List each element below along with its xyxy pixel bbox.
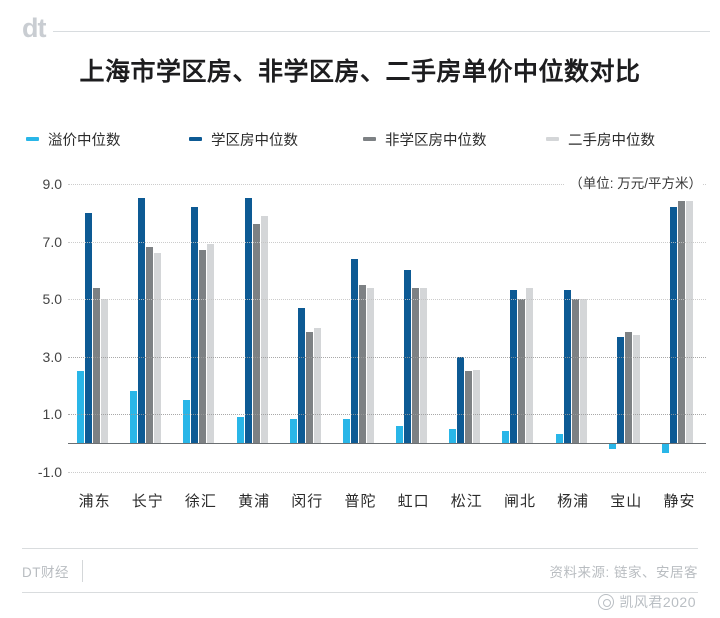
legend-swatch-icon (363, 137, 376, 141)
bar-浦东-3[interactable] (101, 299, 108, 443)
bar-group-杨浦[interactable] (547, 168, 600, 478)
bar-宝山-1[interactable] (617, 337, 624, 443)
legend-label: 溢价中位数 (48, 129, 121, 150)
x-axis-tick-label: 虹口 (387, 490, 440, 511)
plot-area: （单位: 万元/平方米） 9.07.05.03.01.0-1.0 (0, 168, 720, 478)
footer-left: DT财经 (22, 560, 83, 582)
bar-虹口-3[interactable] (420, 288, 427, 443)
x-axis-tick-label: 普陀 (334, 490, 387, 511)
bar-闸北-2[interactable] (518, 299, 525, 443)
y-axis-tick-label: 9.0 (43, 176, 62, 192)
x-axis-tick-label: 闵行 (281, 490, 334, 511)
legend-item-2[interactable]: 非学区房中位数 (363, 129, 487, 150)
bar-杨浦-3[interactable] (580, 299, 587, 443)
footer-brand: DT财经 (22, 561, 69, 581)
bar-group-徐汇[interactable] (174, 168, 227, 478)
gridline (68, 357, 706, 358)
bar-闵行-3[interactable] (314, 328, 321, 443)
bar-长宁-1[interactable] (138, 198, 145, 443)
bar-杨浦-2[interactable] (572, 299, 579, 443)
bar-宝山-3[interactable] (633, 335, 640, 443)
footer-vertical-rule (82, 560, 83, 582)
bar-group-浦东[interactable] (68, 168, 121, 478)
bar-杨浦-1[interactable] (564, 290, 571, 443)
y-axis-tick-label: 3.0 (43, 349, 62, 365)
y-axis-tick-label: 5.0 (43, 291, 62, 307)
bar-普陀-0[interactable] (343, 419, 350, 443)
bar-静安-0[interactable] (662, 443, 669, 453)
bar-闸北-1[interactable] (510, 290, 517, 443)
chart-page: dt 上海市学区房、非学区房、二手房单价中位数对比 溢价中位数学区房中位数非学区… (0, 0, 720, 618)
bar-浦东-1[interactable] (85, 213, 92, 443)
bar-黄浦-3[interactable] (261, 216, 268, 443)
bar-浦东-2[interactable] (93, 288, 100, 443)
legend-swatch-icon (26, 137, 39, 141)
header-divider (53, 31, 710, 32)
legend-label: 非学区房中位数 (385, 129, 487, 150)
bar-闸北-0[interactable] (502, 431, 509, 443)
bar-group-虹口[interactable] (387, 168, 440, 478)
weibo-icon (598, 594, 614, 610)
bar-group-闸北[interactable] (493, 168, 546, 478)
bar-虹口-2[interactable] (412, 288, 419, 443)
gridline (68, 472, 706, 473)
bar-虹口-0[interactable] (396, 426, 403, 443)
page-title: 上海市学区房、非学区房、二手房单价中位数对比 (0, 52, 720, 88)
bar-闵行-0[interactable] (290, 419, 297, 443)
gridline (68, 299, 706, 300)
footer-source: 资料来源: 链家、安居客 (549, 561, 698, 581)
chart-legend: 溢价中位数学区房中位数非学区房中位数二手房中位数 (26, 126, 700, 152)
bar-闸北-3[interactable] (526, 288, 533, 443)
legend-item-0[interactable]: 溢价中位数 (26, 129, 121, 150)
dt-logo: dt (22, 15, 45, 42)
bar-黄浦-2[interactable] (253, 224, 260, 443)
legend-item-1[interactable]: 学区房中位数 (189, 129, 298, 150)
bar-group-静安[interactable] (653, 168, 706, 478)
bar-松江-3[interactable] (473, 370, 480, 443)
bar-group-松江[interactable] (440, 168, 493, 478)
legend-label: 学区房中位数 (211, 129, 298, 150)
y-axis-tick-label: 7.0 (43, 234, 62, 250)
gridline (68, 242, 706, 243)
legend-label: 二手房中位数 (568, 129, 655, 150)
unit-note: （单位: 万元/平方米） (565, 172, 702, 192)
x-axis-tick-label: 闸北 (493, 490, 546, 511)
bar-徐汇-3[interactable] (207, 244, 214, 443)
bar-松江-1[interactable] (457, 357, 464, 443)
bar-黄浦-0[interactable] (237, 417, 244, 443)
bar-group-长宁[interactable] (121, 168, 174, 478)
bar-宝山-2[interactable] (625, 332, 632, 443)
x-axis-tick-label: 宝山 (600, 490, 653, 511)
x-axis-tick-label: 松江 (440, 490, 493, 511)
bar-group-闵行[interactable] (281, 168, 334, 478)
y-axis-labels: 9.07.05.03.01.0-1.0 (22, 168, 62, 478)
x-axis-tick-label: 浦东 (68, 490, 121, 511)
legend-swatch-icon (546, 137, 559, 141)
watermark-text: 凯风君2020 (619, 592, 696, 612)
bar-松江-2[interactable] (465, 371, 472, 443)
x-axis-tick-label: 杨浦 (547, 490, 600, 511)
bar-groups (68, 168, 706, 478)
bar-闵行-2[interactable] (306, 332, 313, 443)
bar-松江-0[interactable] (449, 429, 456, 443)
bar-group-黄浦[interactable] (228, 168, 281, 478)
gridline (68, 414, 706, 415)
x-axis-labels: 浦东长宁徐汇黄浦闵行普陀虹口松江闸北杨浦宝山静安 (68, 490, 706, 511)
x-axis-tick-label: 静安 (653, 490, 706, 511)
bar-普陀-3[interactable] (367, 288, 374, 443)
bar-黄浦-1[interactable] (245, 198, 252, 443)
bar-徐汇-0[interactable] (183, 400, 190, 443)
x-axis-line (68, 443, 706, 444)
bar-普陀-2[interactable] (359, 285, 366, 443)
bar-浦东-0[interactable] (77, 371, 84, 443)
x-axis-tick-label: 黄浦 (228, 490, 281, 511)
legend-item-3[interactable]: 二手房中位数 (546, 129, 655, 150)
x-axis-tick-label: 徐汇 (174, 490, 227, 511)
bar-普陀-1[interactable] (351, 259, 358, 443)
watermark: 凯风君2020 (598, 592, 696, 612)
grid-area (68, 168, 706, 478)
legend-swatch-icon (189, 137, 202, 141)
brand-header: dt (22, 14, 710, 42)
bar-group-普陀[interactable] (334, 168, 387, 478)
bar-杨浦-0[interactable] (556, 434, 563, 443)
footer-divider-bottom (22, 592, 698, 593)
footer: DT财经 资料来源: 链家、安居客 (22, 549, 698, 593)
bar-长宁-0[interactable] (130, 391, 137, 443)
y-axis-tick-label: -1.0 (38, 464, 62, 480)
x-axis-tick-label: 长宁 (121, 490, 174, 511)
bar-静安-2[interactable] (678, 201, 685, 443)
y-axis-tick-label: 1.0 (43, 406, 62, 422)
bar-静安-3[interactable] (686, 201, 693, 443)
bar-闵行-1[interactable] (298, 308, 305, 443)
bar-group-宝山[interactable] (600, 168, 653, 478)
